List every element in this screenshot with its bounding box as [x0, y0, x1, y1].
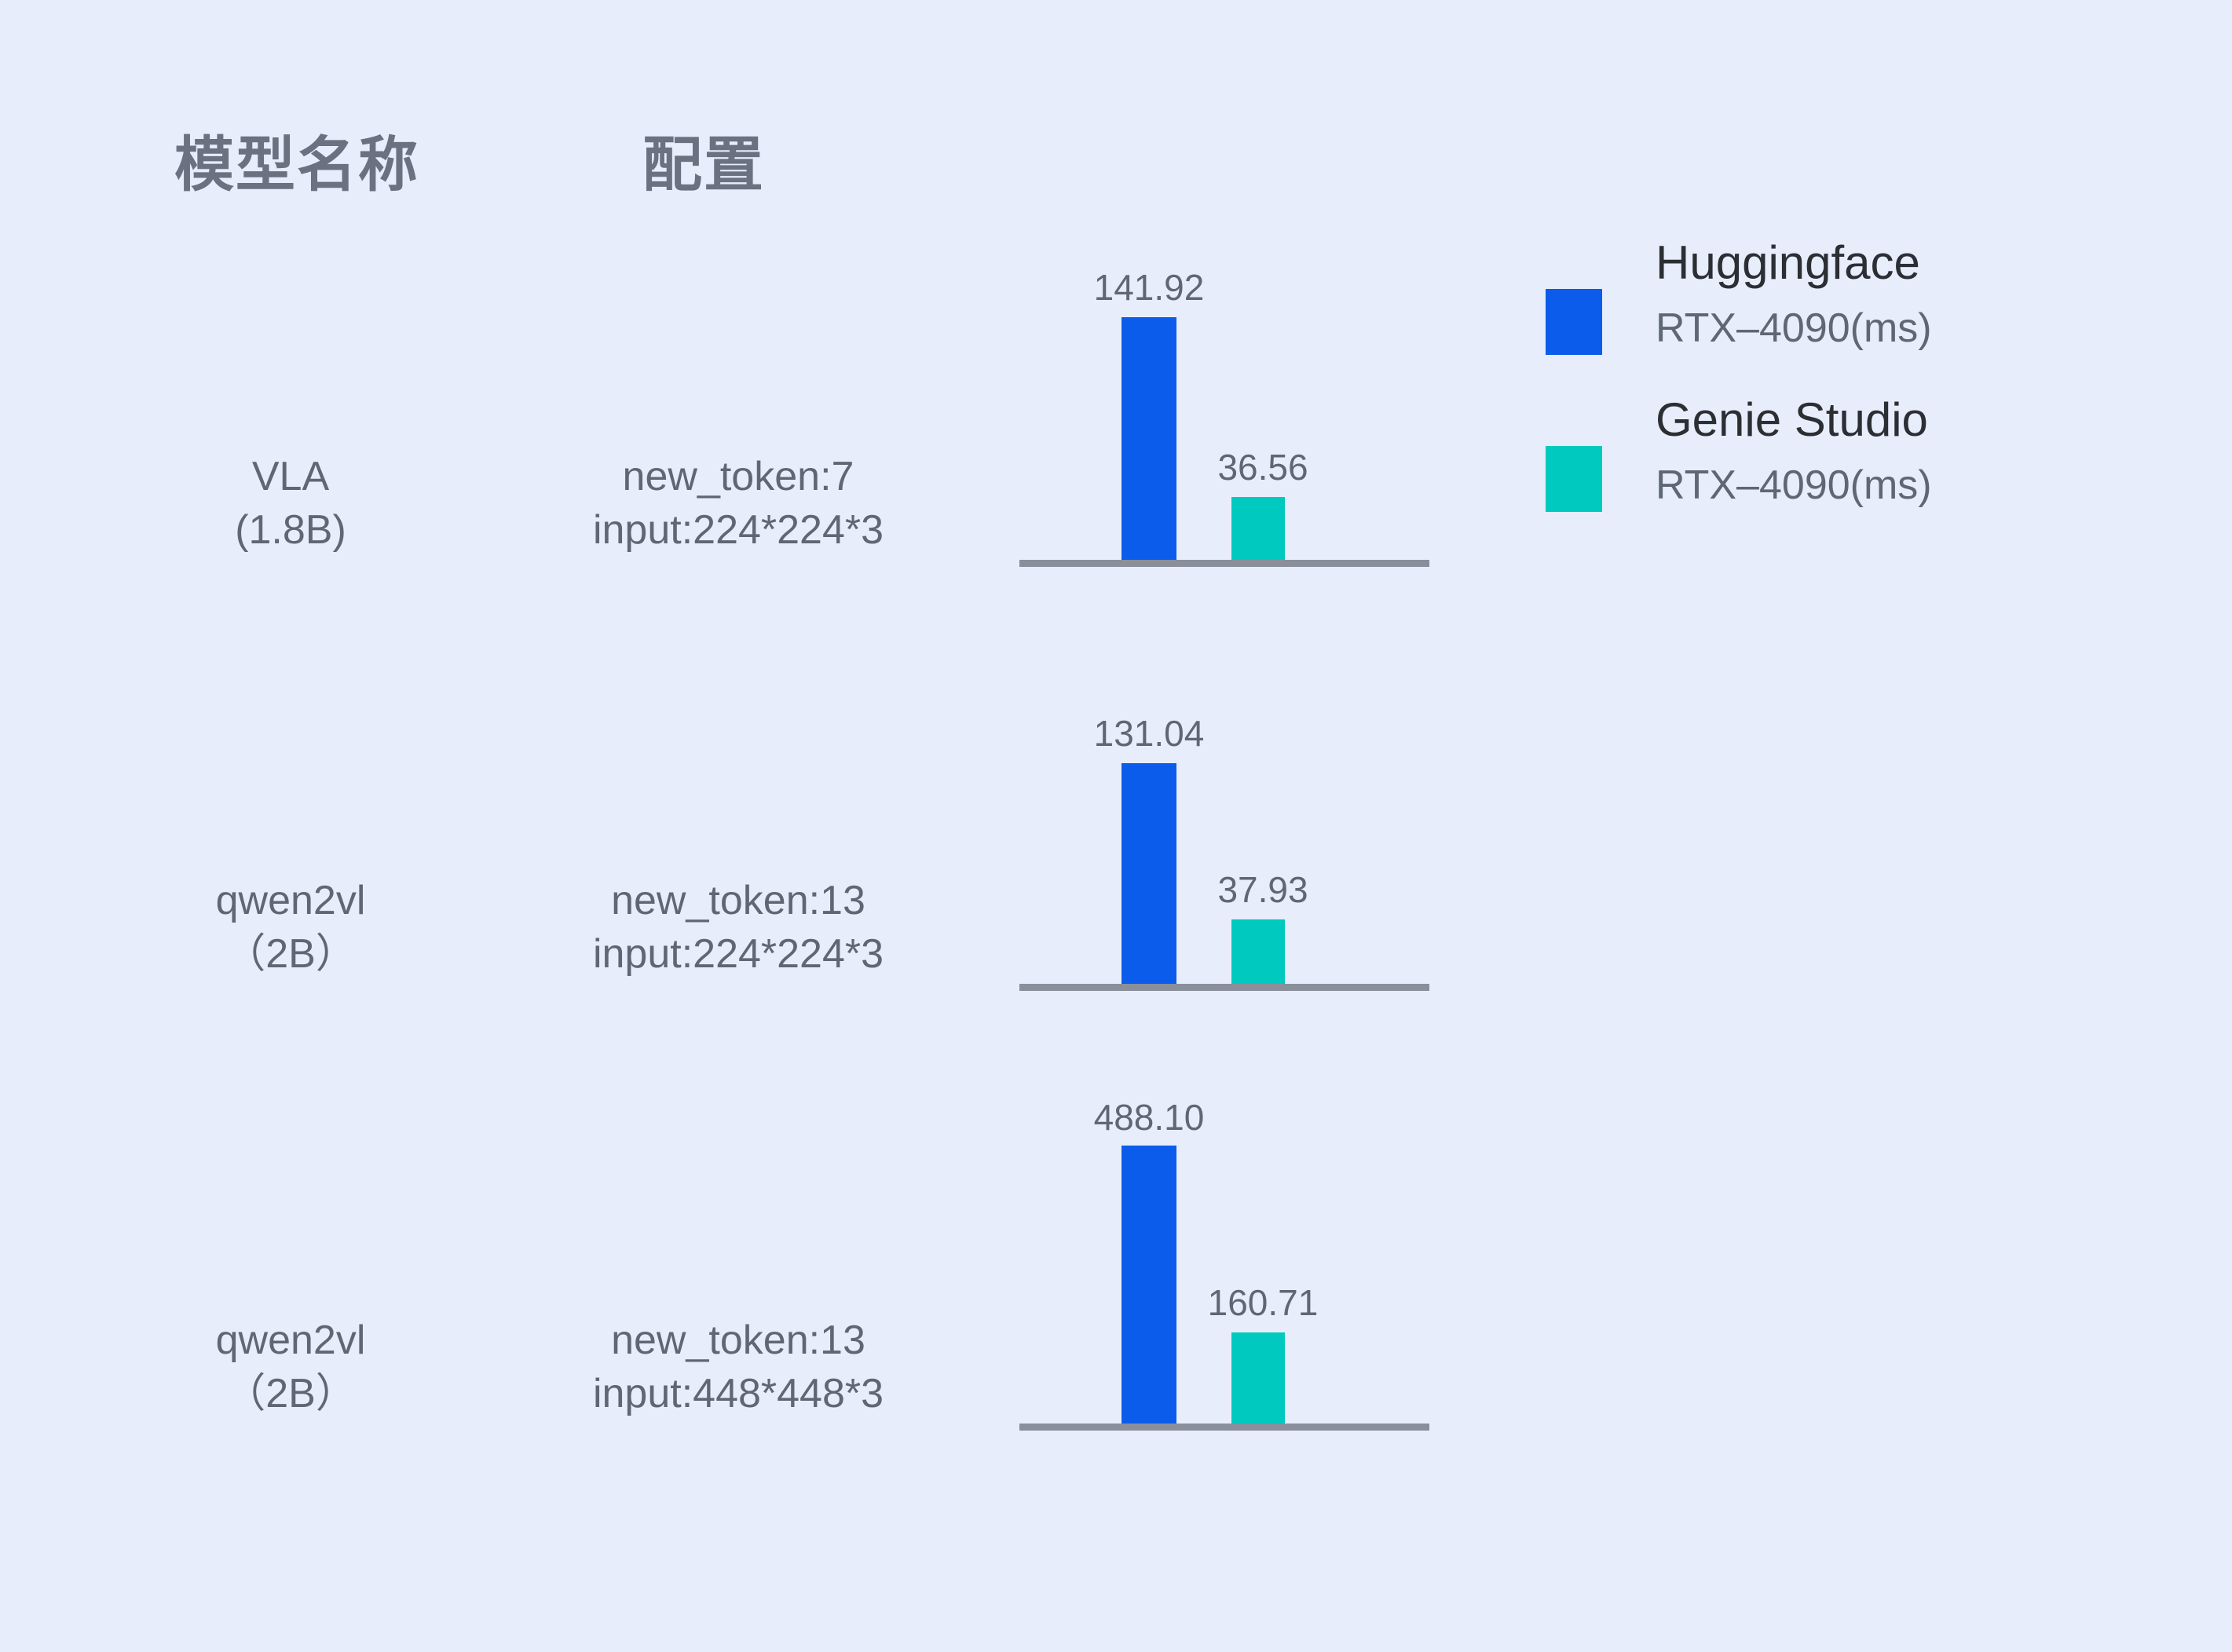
config-new-token: new_token:13: [611, 878, 865, 923]
legend-title: Huggingface: [1656, 236, 1920, 290]
row-plot: 488.10 160.71: [1019, 1062, 1429, 1431]
bar-huggingface[interactable]: [1121, 763, 1176, 984]
chart-row: qwen2vl （2B） new_token:13 input:448*448*…: [0, 1091, 2232, 1468]
legend-title: Genie Studio: [1656, 393, 1928, 447]
legend-item-genie-studio[interactable]: Genie Studio RTX–4090(ms): [1546, 393, 2142, 550]
model-name: qwen2vl: [216, 878, 366, 923]
model-size: （2B）: [134, 927, 448, 981]
chart-legend: Huggingface RTX–4090(ms) Genie Studio RT…: [1546, 236, 2142, 550]
model-name: VLA: [252, 454, 329, 499]
row-config-label: new_token:7 input:224*224*3: [487, 450, 990, 557]
chart-row: qwen2vl （2B） new_token:13 input:224*224*…: [0, 660, 2232, 1029]
row-config-label: new_token:13 input:448*448*3: [487, 1314, 990, 1421]
bar-huggingface[interactable]: [1121, 317, 1176, 560]
legend-subtitle: RTX–4090(ms): [1656, 305, 1932, 352]
legend-item-huggingface[interactable]: Huggingface RTX–4090(ms): [1546, 236, 2142, 393]
teal-swatch-icon: [1546, 446, 1602, 512]
row-model-label: VLA (1.8B): [134, 450, 448, 557]
legend-subtitle: RTX–4090(ms): [1656, 462, 1932, 509]
config-new-token: new_token:13: [611, 1318, 865, 1363]
config-input-shape: input:224*224*3: [487, 927, 990, 981]
bar-value-genie-studio: 36.56: [1157, 446, 1369, 488]
row-plot: 131.04 37.93: [1019, 661, 1429, 991]
row-config-label: new_token:13 input:224*224*3: [487, 874, 990, 981]
bar-value-huggingface: 141.92: [1043, 266, 1255, 309]
bar-huggingface[interactable]: [1121, 1146, 1176, 1431]
bar-value-genie-studio: 37.93: [1157, 868, 1369, 911]
row-model-label: qwen2vl （2B）: [134, 874, 448, 981]
bar-value-huggingface: 488.10: [1043, 1096, 1255, 1138]
bar-value-huggingface: 131.04: [1043, 712, 1255, 755]
row-model-label: qwen2vl （2B）: [134, 1314, 448, 1421]
model-size: （2B）: [134, 1367, 448, 1421]
bar-genie-studio[interactable]: [1231, 919, 1285, 984]
model-name: qwen2vl: [216, 1318, 366, 1363]
baseline-rule: [1019, 1424, 1429, 1431]
bar-genie-studio[interactable]: [1231, 497, 1285, 560]
bar-genie-studio[interactable]: [1231, 1332, 1285, 1424]
blue-swatch-icon: [1546, 289, 1602, 355]
baseline-rule: [1019, 560, 1429, 567]
model-size: (1.8B): [134, 503, 448, 557]
bar-value-genie-studio: 160.71: [1157, 1281, 1369, 1324]
baseline-rule: [1019, 984, 1429, 991]
row-plot: 141.92 36.56: [1019, 237, 1429, 567]
config-input-shape: input:448*448*3: [487, 1367, 990, 1421]
config-new-token: new_token:7: [623, 454, 854, 499]
config-input-shape: input:224*224*3: [487, 503, 990, 557]
